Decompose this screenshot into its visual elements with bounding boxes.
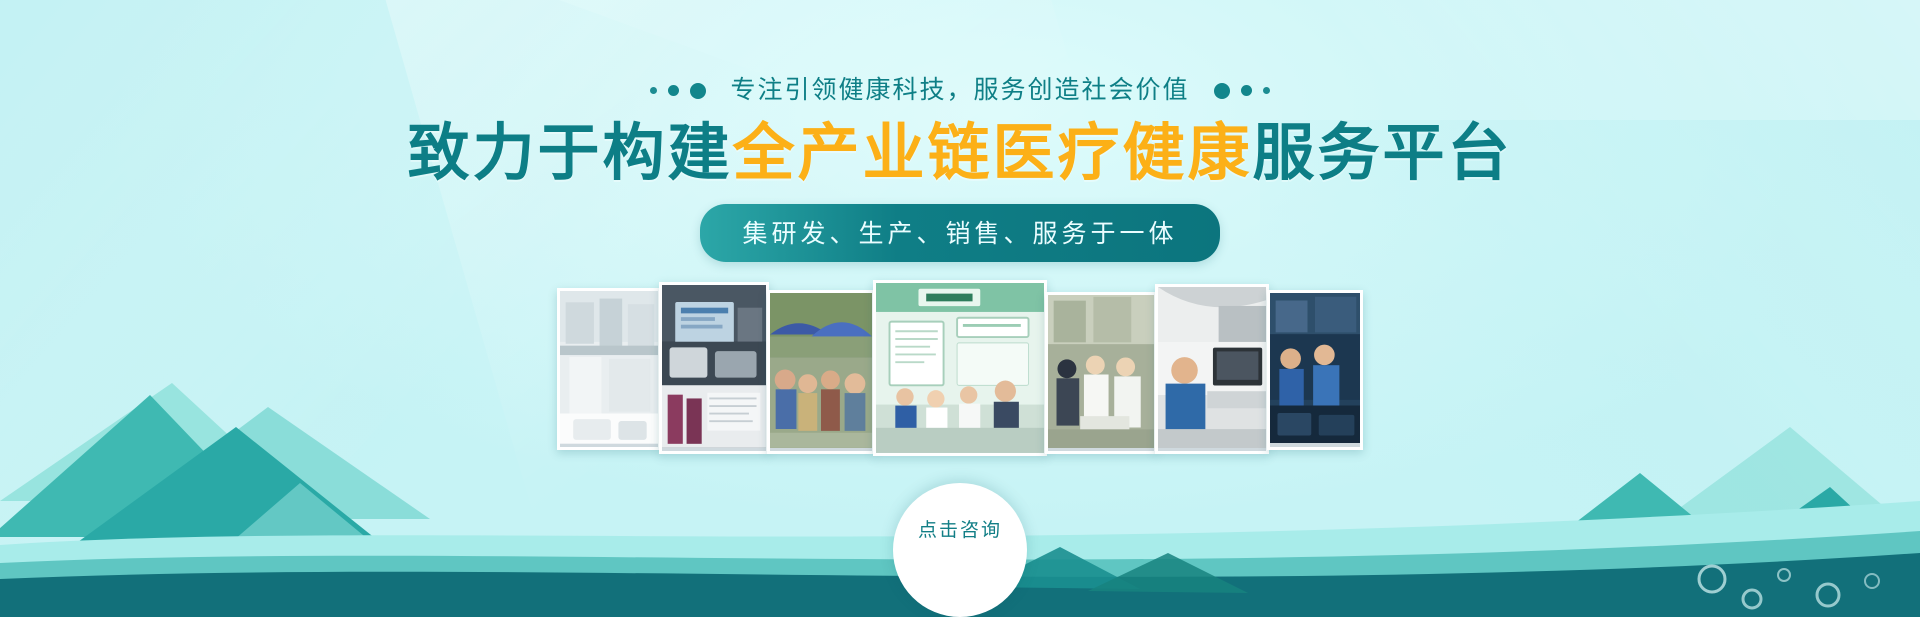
dot-small-icon bbox=[650, 87, 657, 94]
tagline-row: 专注引领健康科技，服务创造社会价值 bbox=[0, 78, 1920, 103]
photo-outdoor-clinic[interactable] bbox=[767, 290, 875, 454]
title-part-1: 致力于构建 bbox=[407, 119, 732, 188]
photo-image bbox=[1158, 287, 1266, 448]
photo-strip bbox=[557, 280, 1363, 460]
dot-large-icon bbox=[690, 83, 706, 99]
photo-lab-equipment[interactable] bbox=[557, 288, 661, 450]
photo-image bbox=[1270, 293, 1360, 443]
photo-technician-desk[interactable] bbox=[1155, 284, 1269, 454]
photo-health-kiosk[interactable] bbox=[873, 280, 1047, 456]
tagline-text: 专注引领健康科技，服务创造社会价值 bbox=[730, 78, 1189, 103]
headline-block: 专注引领健康科技，服务创造社会价值 致力于构建全产业链医疗健康服务平台 集研发、… bbox=[0, 0, 1920, 262]
dots-left-decoration bbox=[650, 83, 706, 99]
title-part-3: 服务平台 bbox=[1253, 119, 1513, 188]
photo-doctors-outdoors[interactable] bbox=[1045, 292, 1157, 454]
consult-cta-label: 点击咨询 bbox=[918, 515, 1002, 542]
dot-large-icon bbox=[1214, 83, 1230, 99]
photo-image bbox=[770, 293, 872, 448]
subtitle-pill: 集研发、生产、销售、服务于一体 bbox=[700, 204, 1219, 262]
dot-small-icon bbox=[1263, 87, 1270, 94]
dots-right-decoration bbox=[1214, 83, 1270, 99]
dot-medium-icon bbox=[668, 85, 679, 96]
dot-medium-icon bbox=[1241, 85, 1252, 96]
photo-image bbox=[560, 291, 658, 444]
photo-image bbox=[1048, 295, 1154, 448]
consult-cta-button[interactable]: 点击咨询 bbox=[893, 483, 1027, 617]
promo-banner: 专注引领健康科技，服务创造社会价值 致力于构建全产业链医疗健康服务平台 集研发、… bbox=[0, 0, 1920, 617]
photo-image bbox=[662, 285, 766, 448]
page-title: 致力于构建全产业链医疗健康服务平台 bbox=[0, 119, 1920, 188]
title-highlight: 全产业链医疗健康 bbox=[732, 119, 1252, 188]
photo-screening-booth[interactable] bbox=[659, 282, 769, 454]
photo-workshop-line[interactable] bbox=[1267, 290, 1363, 450]
photo-image bbox=[876, 283, 1044, 453]
